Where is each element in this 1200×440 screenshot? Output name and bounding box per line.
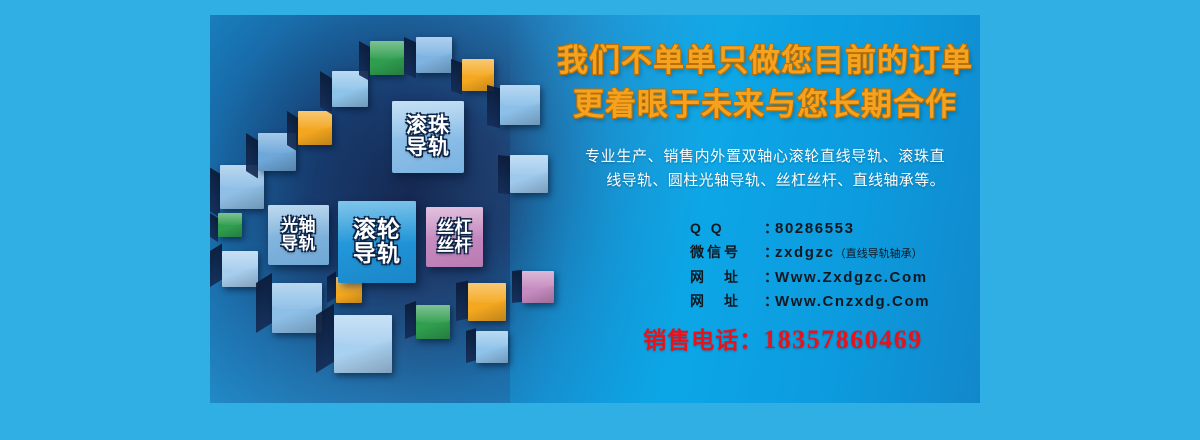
cube-shape bbox=[416, 37, 452, 73]
contact-value-website-2[interactable]: Www.Cnzxdg.Com bbox=[775, 290, 930, 314]
cube-extrusion bbox=[466, 328, 476, 363]
cube-shade bbox=[370, 41, 404, 75]
contact-value-qq[interactable]: 80286553 bbox=[775, 217, 855, 241]
contact-block: Q Q ： 80286553 微信号 ： zxdgzc （直线导轨轴承） 网 址… bbox=[690, 217, 930, 314]
cube-face bbox=[468, 283, 506, 321]
contact-colon: ： bbox=[764, 241, 775, 264]
intro-paragraph: 专业生产、销售内外置双轴心滚轮直线导轨、滚珠直线导轨、圆柱光轴导轨、丝杠丝杆、直… bbox=[585, 145, 945, 194]
cube-face bbox=[510, 155, 548, 193]
cube-face bbox=[222, 251, 258, 287]
product-box-line2: 导轨 bbox=[406, 137, 450, 159]
cube-shape bbox=[272, 283, 322, 333]
contact-row-wechat: 微信号 ： zxdgzc （直线导轨轴承） bbox=[690, 241, 930, 265]
cube-shade bbox=[218, 213, 242, 237]
cube-shape bbox=[334, 315, 392, 373]
cube-shape bbox=[500, 85, 540, 125]
cube-shape bbox=[476, 331, 508, 363]
cube-shade bbox=[510, 155, 548, 193]
cube-shape bbox=[510, 155, 548, 193]
contact-note-wechat: （直线导轨轴承） bbox=[835, 246, 923, 264]
contact-colon: ： bbox=[764, 290, 775, 313]
sales-phone-label: 销售电话： bbox=[643, 327, 763, 353]
product-box-line1: 丝杠 bbox=[437, 219, 472, 237]
contact-value-wechat[interactable]: zxdgzc bbox=[775, 241, 835, 265]
cube-shape bbox=[222, 251, 258, 287]
cube-extrusion bbox=[405, 301, 416, 339]
product-box-line2: 丝杆 bbox=[437, 237, 472, 255]
cube-face bbox=[500, 85, 540, 125]
cube-face bbox=[298, 111, 332, 145]
headline-line-1: 我们不单单只做您目前的订单 bbox=[550, 39, 980, 83]
cube-extrusion bbox=[498, 155, 510, 194]
product-box-line1: 光轴 bbox=[281, 217, 316, 235]
cube-shade bbox=[476, 331, 508, 363]
cube-extrusion bbox=[512, 270, 522, 303]
contact-key: Q Q bbox=[690, 217, 764, 240]
cube-extrusion bbox=[246, 133, 258, 178]
cube-extrusion bbox=[451, 59, 462, 95]
product-box-guangzhou-daogui[interactable]: 光轴 导轨 bbox=[268, 205, 329, 265]
cube-shade bbox=[416, 305, 450, 339]
cube-shape bbox=[370, 41, 404, 75]
cube-extrusion bbox=[404, 37, 416, 78]
contact-key: 网 址 bbox=[690, 266, 764, 289]
cube-extrusion bbox=[210, 165, 220, 218]
cube-face bbox=[370, 41, 404, 75]
cube-shade bbox=[334, 315, 392, 373]
cube-shape bbox=[298, 111, 332, 145]
product-box-line1: 滚轮 bbox=[353, 218, 401, 242]
cube-shape bbox=[218, 213, 242, 237]
product-box-gunlun-daogui[interactable]: 滚轮 导轨 bbox=[338, 201, 416, 283]
cube-extrusion bbox=[210, 213, 218, 242]
banner-canvas: 滚珠 导轨 光轴 导轨 滚轮 导轨 丝杠 丝杆 我们不单单只做您目前的订单 更着… bbox=[0, 0, 1200, 440]
cube-face bbox=[476, 331, 508, 363]
contact-key: 微信号 bbox=[690, 241, 764, 264]
product-box-sigang-sigan[interactable]: 丝杠 丝杆 bbox=[426, 207, 483, 267]
headline-line-2: 更着眼于未来与您长期合作 bbox=[550, 83, 980, 127]
cube-shade bbox=[468, 283, 506, 321]
cube-face bbox=[272, 283, 322, 333]
product-box-line2: 导轨 bbox=[353, 242, 401, 266]
cube-shade bbox=[272, 283, 322, 333]
contact-key: 网 址 bbox=[690, 290, 764, 313]
cube-shade bbox=[298, 111, 332, 145]
sales-phone-number[interactable]: 18357860469 bbox=[763, 325, 923, 354]
cube-shape bbox=[468, 283, 506, 321]
contact-row-qq: Q Q ： 80286553 bbox=[690, 217, 930, 241]
cube-extrusion bbox=[210, 244, 222, 287]
cube-face bbox=[218, 213, 242, 237]
contact-row-website-1: 网 址 ： Www.Zxdgzc.Com bbox=[690, 266, 930, 290]
product-box-line1: 滚珠 bbox=[406, 115, 450, 137]
cube-face bbox=[416, 37, 452, 73]
product-box-line2: 导轨 bbox=[281, 235, 316, 253]
banner-panel: 滚珠 导轨 光轴 导轨 滚轮 导轨 丝杠 丝杆 我们不单单只做您目前的订单 更着… bbox=[210, 15, 980, 403]
cube-extrusion bbox=[327, 271, 336, 303]
cube-shade bbox=[416, 37, 452, 73]
cube-extrusion bbox=[320, 71, 332, 114]
cube-shade bbox=[222, 251, 258, 287]
contact-row-website-2: 网 址 ： Www.Cnzxdg.Com bbox=[690, 290, 930, 314]
cube-shade bbox=[500, 85, 540, 125]
cube-extrusion bbox=[256, 273, 272, 333]
cube-extrusion bbox=[456, 281, 468, 321]
cube-face bbox=[334, 315, 392, 373]
cube-extrusion bbox=[316, 304, 334, 373]
contact-value-website-1[interactable]: Www.Zxdgzc.Com bbox=[775, 266, 928, 290]
headline: 我们不单单只做您目前的订单 更着眼于未来与您长期合作 bbox=[550, 39, 980, 127]
cube-face bbox=[416, 305, 450, 339]
banner-copy: 我们不单单只做您目前的订单 更着眼于未来与您长期合作 专业生产、销售内外置双轴心… bbox=[550, 15, 980, 403]
cube-extrusion bbox=[487, 85, 500, 128]
contact-colon: ： bbox=[764, 266, 775, 289]
cube-extrusion bbox=[359, 41, 370, 81]
cube-extrusion bbox=[287, 111, 298, 152]
cube-shape bbox=[416, 305, 450, 339]
contact-colon: ： bbox=[764, 217, 775, 240]
product-box-gunzhu-daogui[interactable]: 滚珠 导轨 bbox=[392, 101, 464, 173]
sales-phone[interactable]: 销售电话：18357860469 bbox=[586, 321, 980, 355]
